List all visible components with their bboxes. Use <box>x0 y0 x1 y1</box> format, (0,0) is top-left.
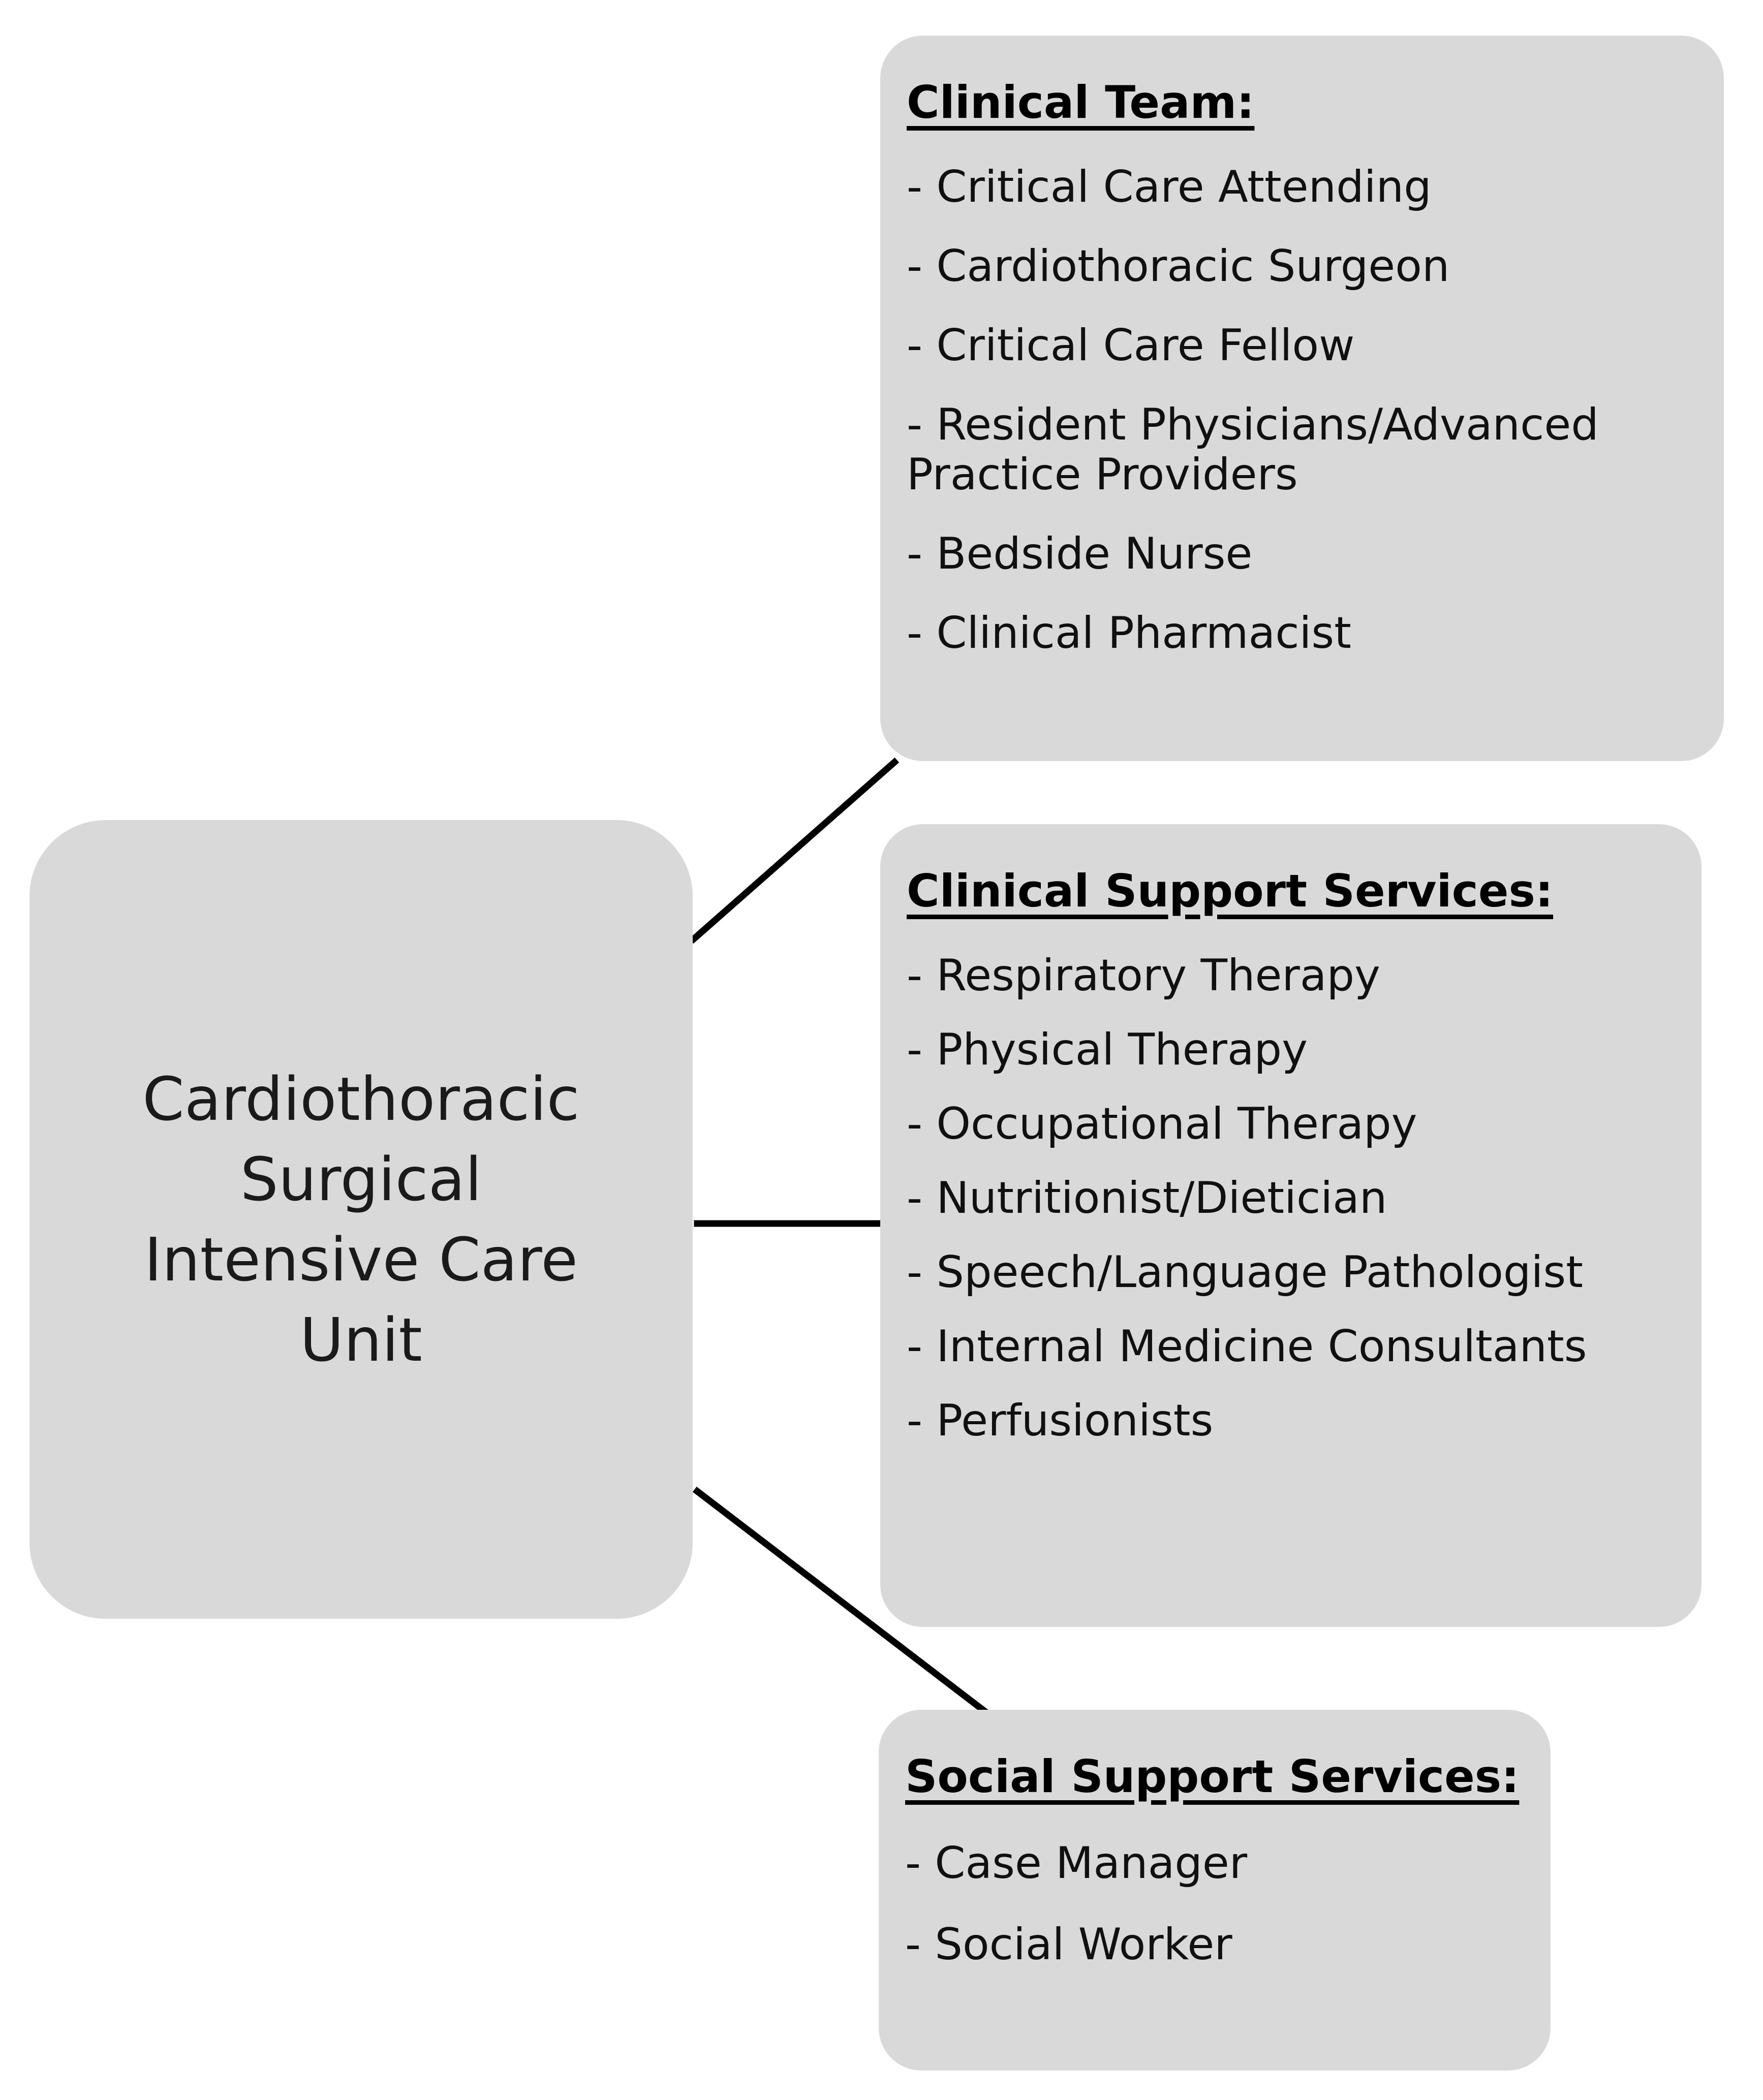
branch-node-clinical-team[interactable]: Clinical Team: - Critical Care Attending… <box>880 36 1724 761</box>
list-item: - Perfusionists <box>907 1396 1675 1446</box>
list-item: - Critical Care Fellow <box>907 321 1697 370</box>
list-item: - Cardiothoracic Surgeon <box>907 241 1697 291</box>
list-item: - Resident Physicians/Advanced Practice … <box>907 400 1697 499</box>
diagram-canvas: Cardiothoracic Surgical Intensive Care U… <box>0 0 1763 2100</box>
branch-node-social-support-services[interactable]: Social Support Services: - Case Manager … <box>879 1710 1551 2071</box>
list-item: - Bedside Nurse <box>907 529 1697 579</box>
list-item: - Social Worker <box>905 1920 1524 1969</box>
branch-node-clinical-support-services[interactable]: Clinical Support Services: - Respiratory… <box>880 824 1702 1627</box>
branch-list-clinical-support-services: - Respiratory Therapy - Physical Therapy… <box>907 951 1675 1446</box>
branch-title-clinical-team: Clinical Team: <box>907 71 1697 135</box>
list-item: - Case Manager <box>905 1838 1524 1888</box>
list-item: - Respiratory Therapy <box>907 951 1675 1000</box>
root-node-cardiothoracic-sicu[interactable]: Cardiothoracic Surgical Intensive Care U… <box>29 820 693 1619</box>
branch-list-social-support-services: - Case Manager - Social Worker <box>905 1838 1524 1969</box>
list-item: - Internal Medicine Consultants <box>907 1322 1675 1371</box>
list-item: - Critical Care Attending <box>907 162 1697 212</box>
branch-title-social-support-services: Social Support Services: <box>905 1745 1524 1809</box>
root-node-label: Cardiothoracic Surgical Intensive Care U… <box>107 1059 615 1380</box>
list-item: - Physical Therapy <box>907 1025 1675 1075</box>
list-item: - Speech/Language Pathologist <box>907 1247 1675 1297</box>
edge-root-to-clinical-team <box>694 762 894 939</box>
list-item: - Clinical Pharmacist <box>907 608 1697 658</box>
branch-list-clinical-team: - Critical Care Attending - Cardiothorac… <box>907 162 1697 658</box>
list-item: - Occupational Therapy <box>907 1099 1675 1149</box>
list-item: - Nutritionist/Dietician <box>907 1173 1675 1223</box>
branch-title-clinical-support-services: Clinical Support Services: <box>907 860 1675 923</box>
